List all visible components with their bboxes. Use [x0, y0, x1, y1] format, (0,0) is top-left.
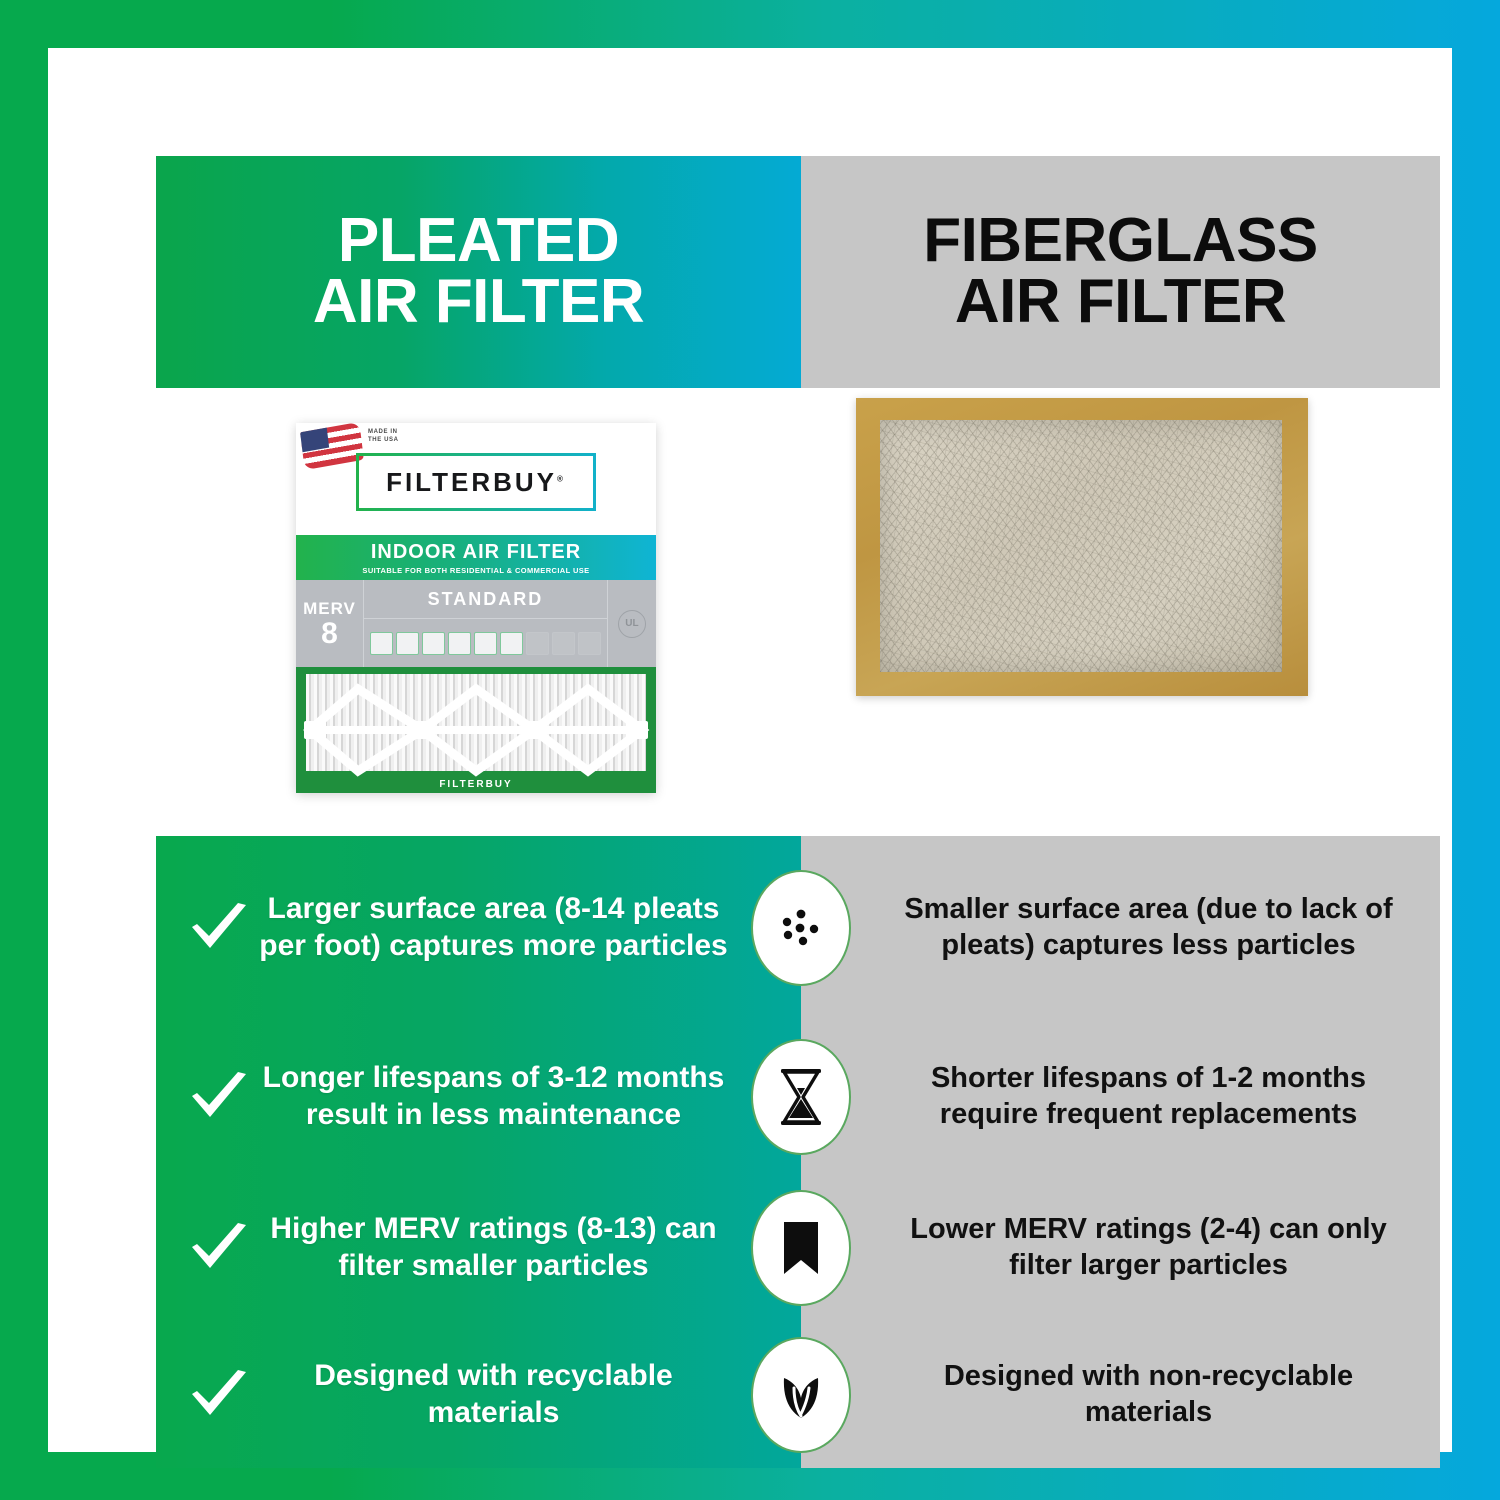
row1-fiberglass-text: Smaller surface area (due to lack of ple…: [897, 892, 1400, 963]
frame-brand-label: FILTERBUY: [296, 779, 656, 790]
row4-fiberglass-cell: Designed with non-recyclable materials: [801, 1322, 1440, 1468]
merv-value: 8: [321, 619, 338, 649]
pleated-title-line2: AIR FILTER: [313, 272, 644, 333]
tier-row: STANDARD: [364, 580, 607, 619]
tier-label: STANDARD: [428, 589, 544, 610]
header-right-fiberglass: FIBERGLASS AIR FILTER: [801, 156, 1440, 388]
hourglass-icon: [751, 1039, 851, 1155]
product-image-band: MADE INTHE USA FILTERBUY® INDOOR AIR FIL…: [156, 388, 1440, 836]
merv-cell: MERV 8: [296, 580, 364, 667]
ul-cert-cell: UL: [607, 580, 656, 667]
virus-icon: [578, 632, 601, 655]
row3-pleated-cell: Higher MERV ratings (8-13) can filter sm…: [156, 1174, 801, 1322]
row2-pleated-text: Longer lifespans of 3-12 months result i…: [256, 1060, 731, 1134]
row1-fiberglass-cell: Smaller surface area (due to lack of ple…: [801, 836, 1440, 1020]
pet-dander-icon: [500, 632, 523, 655]
row3-fiberglass-text: Lower MERV ratings (2-4) can only filter…: [897, 1212, 1400, 1283]
header-band: PLEATED AIR FILTER FIBERGLASS AIR FILTER: [156, 156, 1440, 388]
row3-fiberglass-cell: Lower MERV ratings (2-4) can only filter…: [801, 1174, 1440, 1322]
box-subtitle: INDOOR AIR FILTER: [371, 541, 581, 564]
row2-pleated-cell: Longer lifespans of 3-12 months result i…: [156, 1020, 801, 1174]
pleated-title-line1: PLEATED: [313, 211, 644, 272]
fiberglass-mesh-texture: [880, 420, 1282, 672]
made-in-usa-label: MADE INTHE USA: [368, 429, 399, 444]
fiberglass-title: FIBERGLASS AIR FILTER: [923, 211, 1318, 333]
fiberglass-title-line1: FIBERGLASS: [923, 211, 1318, 272]
capability-icon-tiles: [364, 619, 607, 667]
usa-flag-icon: [300, 423, 364, 470]
white-matte: PLEATED AIR FILTER FIBERGLASS AIR FILTER: [48, 48, 1452, 1452]
fiberglass-title-line2: AIR FILTER: [923, 272, 1318, 333]
fiberglass-product-cell: [801, 388, 1440, 836]
comparison-rows: Larger surface area (8-14 pleats per foo…: [156, 836, 1440, 1468]
box-mid-cell: STANDARD: [364, 580, 607, 667]
filterbuy-box-image: MADE INTHE USA FILTERBUY® INDOOR AIR FIL…: [296, 423, 656, 793]
smoke-icon: [526, 632, 549, 655]
comparison-row: Larger surface area (8-14 pleats per foo…: [156, 836, 1440, 1020]
comparison-row: Higher MERV ratings (8-13) can filter sm…: [156, 1174, 1440, 1322]
row2-fiberglass-cell: Shorter lifespans of 1-2 months require …: [801, 1020, 1440, 1174]
outer-gradient-border: PLEATED AIR FILTER FIBERGLASS AIR FILTER: [0, 0, 1500, 1500]
row1-pleated-cell: Larger surface area (8-14 pleats per foo…: [156, 836, 801, 1020]
pleated-media-photo: FILTERBUY: [296, 667, 656, 793]
bacteria-icon: [552, 632, 575, 655]
mold-icon: [448, 632, 471, 655]
pleat-support-diamonds-icon: [296, 667, 656, 793]
leaf-icon: [751, 1337, 851, 1453]
row4-pleated-text: Designed with recyclable materials: [256, 1358, 731, 1432]
brand-tm: ®: [557, 474, 566, 483]
bookmark-icon-glyph: [780, 1220, 822, 1276]
header-left-pleated: PLEATED AIR FILTER: [156, 156, 801, 388]
filterbuy-logo-frame: FILTERBUY®: [356, 453, 596, 511]
box-green-banner: INDOOR AIR FILTER SUITABLE FOR BOTH RESI…: [296, 535, 656, 580]
checkmark-icon: [186, 1220, 252, 1276]
row2-fiberglass-text: Shorter lifespans of 1-2 months require …: [897, 1061, 1400, 1132]
particles-icon-glyph: [775, 902, 827, 954]
hourglass-icon-glyph: [776, 1068, 826, 1126]
checkmark-icon: [186, 1367, 252, 1423]
comparison-row: Longer lifespans of 3-12 months result i…: [156, 1020, 1440, 1174]
leaf-icon-glyph: [774, 1368, 828, 1422]
comparison-row: Designed with recyclable materials Desig…: [156, 1322, 1440, 1468]
checkmark-icon: [186, 900, 252, 956]
row3-pleated-text: Higher MERV ratings (8-13) can filter sm…: [256, 1211, 731, 1285]
row4-fiberglass-text: Designed with non-recyclable materials: [897, 1359, 1400, 1430]
fiberglass-filter-image: [856, 398, 1308, 696]
checkmark-icon: [186, 1069, 252, 1125]
dust-lint-icon: [370, 632, 393, 655]
pleated-title: PLEATED AIR FILTER: [313, 211, 644, 333]
box-top-section: MADE INTHE USA FILTERBUY®: [296, 423, 656, 535]
merv-label: MERV: [303, 599, 356, 619]
filterbuy-logo-text: FILTERBUY®: [386, 467, 566, 498]
pleated-product-cell: MADE INTHE USA FILTERBUY® INDOOR AIR FIL…: [156, 388, 801, 836]
box-tagline: SUITABLE FOR BOTH RESIDENTIAL & COMMERCI…: [362, 566, 589, 575]
box-spec-strip: MERV 8 STANDARD: [296, 580, 656, 667]
comparison-infographic: PLEATED AIR FILTER FIBERGLASS AIR FILTER: [156, 156, 1440, 1440]
bookmark-icon: [751, 1190, 851, 1306]
particles-icon: [751, 870, 851, 986]
pollen-icon: [422, 632, 445, 655]
row4-pleated-cell: Designed with recyclable materials: [156, 1322, 801, 1468]
brand-word: FILTERBUY: [386, 467, 557, 497]
ul-certification-icon: UL: [618, 610, 646, 638]
dust-mites-icon: [396, 632, 419, 655]
lint-icon: [474, 632, 497, 655]
row1-pleated-text: Larger surface area (8-14 pleats per foo…: [256, 891, 731, 965]
